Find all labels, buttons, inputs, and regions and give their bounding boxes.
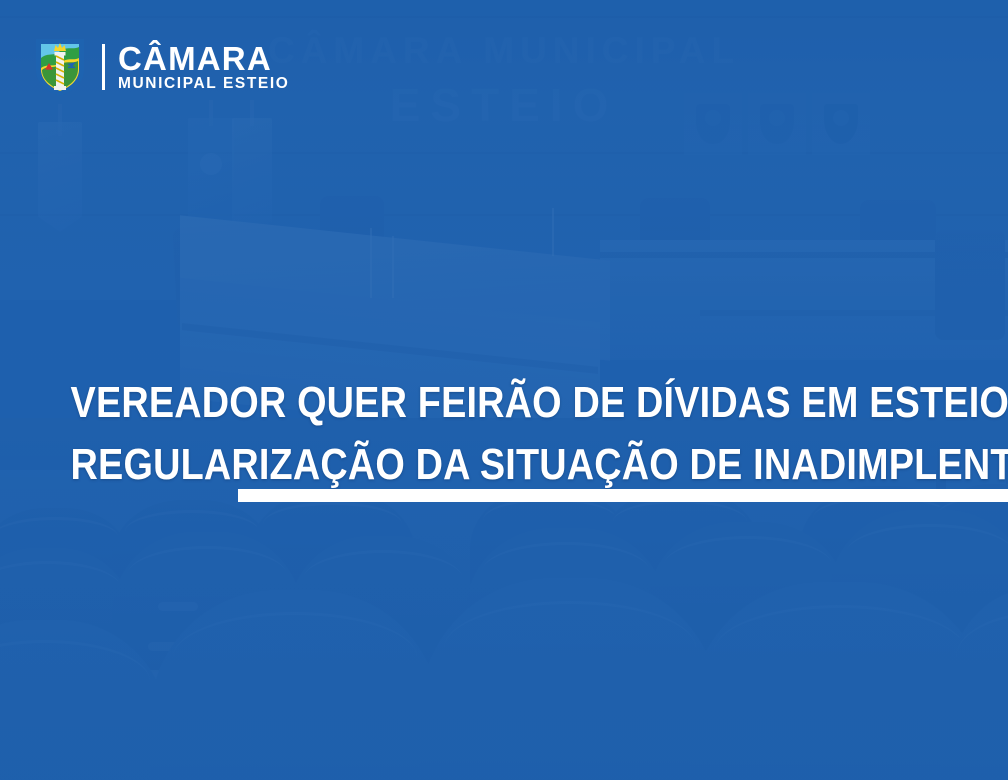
vertical-divider-icon — [102, 44, 105, 90]
headline-underline-bar — [238, 489, 1008, 502]
logo-title: CÂMARA — [118, 43, 289, 74]
coat-of-arms-shield-icon — [32, 36, 88, 98]
headline-line-1: VEREADOR QUER FEIRÃO DE DÍVIDAS EM ESTEI… — [71, 372, 938, 434]
logo-wordmark: CÂMARA MUNICIPAL ESTEIO — [118, 43, 289, 92]
headline-block: VEREADOR QUER FEIRÃO DE DÍVIDAS EM ESTEI… — [0, 372, 1008, 496]
camara-logo[interactable]: CÂMARA MUNICIPAL ESTEIO — [32, 36, 289, 98]
headline-line-2: REGULARIZAÇÃO DA SITUAÇÃO DE INADIMPLENT… — [71, 434, 938, 496]
news-banner: CÂMARA MUNICIPAL ESTEIO — [0, 0, 1008, 780]
logo-subtitle: MUNICIPAL ESTEIO — [118, 76, 289, 92]
